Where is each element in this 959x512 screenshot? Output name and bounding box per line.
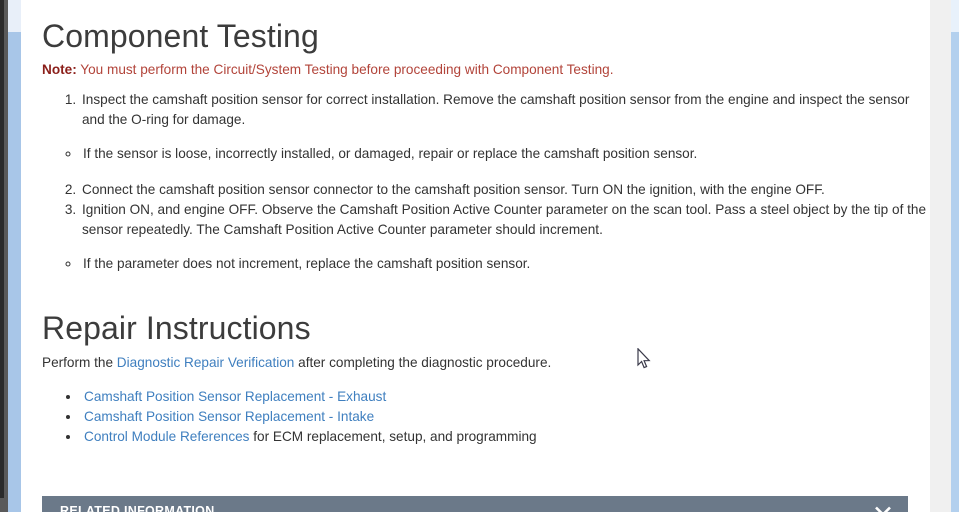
link-diagnostic-repair-verification[interactable]: Diagnostic Repair Verification [117, 355, 295, 370]
list-item: Inspect the camshaft position sensor for… [80, 90, 930, 130]
window-bottom-left-corner [0, 498, 8, 512]
repair-intro-suffix: after completing the diagnostic procedur… [294, 355, 551, 370]
outer-scrollbar-right-thumb[interactable] [951, 32, 959, 512]
list-item: Camshaft Position Sensor Replacement - I… [81, 407, 930, 427]
outer-scrollbar-right-top[interactable] [951, 0, 959, 32]
repair-links-list: Camshaft Position Sensor Replacement - E… [42, 387, 930, 447]
component-testing-steps-part1: Inspect the camshaft position sensor for… [42, 90, 930, 130]
outer-scrollbar-thumb[interactable] [8, 32, 21, 512]
list-item: Ignition ON, and engine OFF. Observe the… [80, 200, 930, 240]
list-item: Connect the camshaft position sensor con… [80, 180, 930, 200]
related-information-header[interactable]: RELATED INFORMATION [42, 496, 908, 512]
note-text: You must perform the Circuit/System Test… [77, 62, 614, 77]
list-item: If the sensor is loose, incorrectly inst… [81, 144, 930, 164]
document-content-pane: Component Testing Note: You must perform… [21, 0, 930, 512]
link-camshaft-position-sensor-replacement-exhaust[interactable]: Camshaft Position Sensor Replacement - E… [84, 389, 386, 404]
related-information-title: RELATED INFORMATION [60, 504, 215, 512]
substep-note-2: If the parameter does not increment, rep… [42, 254, 930, 274]
list-item: Control Module References for ECM replac… [81, 427, 930, 447]
document-inner: Component Testing Note: You must perform… [42, 0, 930, 447]
link-control-module-references[interactable]: Control Module References [84, 429, 249, 444]
page-title-component-testing: Component Testing [42, 0, 930, 55]
link-camshaft-position-sensor-replacement-intake[interactable]: Camshaft Position Sensor Replacement - I… [84, 409, 374, 424]
browser-content-viewport: Component Testing Note: You must perform… [0, 0, 959, 512]
link-trailing-text: for ECM replacement, setup, and programm… [249, 429, 536, 444]
repair-intro-paragraph: Perform the Diagnostic Repair Verificati… [42, 353, 930, 373]
list-item: If the parameter does not increment, rep… [81, 254, 930, 274]
list-item: Camshaft Position Sensor Replacement - E… [81, 387, 930, 407]
note-paragraph: Note: You must perform the Circuit/Syste… [42, 61, 930, 79]
substep-note-1: If the sensor is loose, incorrectly inst… [42, 144, 930, 164]
repair-intro-prefix: Perform the [42, 355, 117, 370]
outer-scrollbar-track-top[interactable] [8, 0, 21, 32]
page-title-repair-instructions: Repair Instructions [42, 290, 930, 347]
chevron-down-icon[interactable] [874, 505, 892, 512]
note-label: Note: [42, 62, 77, 77]
component-testing-steps-part2: Connect the camshaft position sensor con… [42, 180, 930, 240]
inner-scrollbar-track[interactable] [930, 0, 951, 512]
